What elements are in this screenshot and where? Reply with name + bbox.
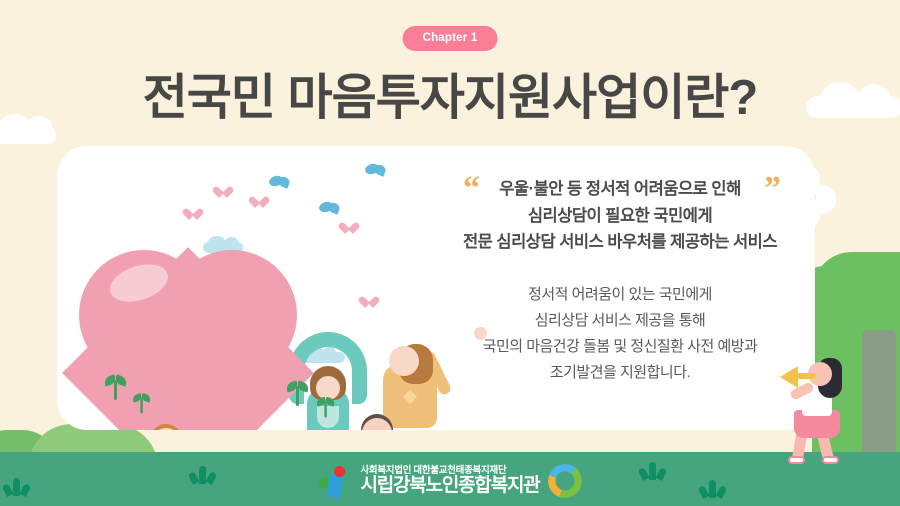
small-heart-icon [253,192,265,203]
big-heart-graphic [79,250,297,430]
quote-close-icon: ” [764,172,781,206]
quote-line: 전문 심리상담 서비스 바우처를 제공하는 서비스 [425,229,815,256]
ring-logo-icon [548,464,582,498]
organization-text: 사회복지법인 대한불교천태종복지재단 시립강북노인종합복지관 [360,466,539,496]
chapter-badge: Chapter 1 [403,26,498,51]
sprout-icon [133,393,151,414]
small-heart-icon [363,292,375,303]
quote-line: 우울·불안 등 정서적 어려움으로 인해 [425,176,815,203]
bird-icon [365,164,387,176]
trumpet-icon [780,366,814,386]
page-title: 전국민 마음투자지원사업이란? [0,58,900,129]
sprout-icon [317,396,335,417]
tree-trunk [862,330,896,456]
sprout-icon [105,374,127,400]
description-block: 정서적 어려움이 있는 국민에게 심리상담 서비스 제공을 통해 국민의 마음건… [483,282,758,385]
card-text-column: “ ” 우울·불안 등 정서적 어려움으로 인해 심리상담이 필요한 국민에게 … [425,146,815,430]
trumpet-girl-illustration [778,352,864,456]
bird-icon [269,176,291,188]
organization-name: 시립강북노인종합복지관 [360,476,539,496]
quote-open-icon: “ [463,172,480,206]
sprout-icon [287,380,309,406]
description-line: 정서적 어려움이 있는 국민에게 [483,282,758,308]
description-line: 국민의 마음건강 돌봄 및 정신질환 사전 예방과 [483,334,758,360]
footer-logo-bar: 사회복지법인 대한불교천태종복지재단 시립강북노인종합복지관 [0,456,900,506]
quote-line: 심리상담이 필요한 국민에게 [425,203,815,230]
small-heart-icon [343,218,355,229]
small-heart-icon [187,204,199,215]
foundation-mark-icon [318,464,352,498]
bird-icon [319,202,341,214]
quote-block: “ ” 우울·불안 등 정서적 어려움으로 인해 심리상담이 필요한 국민에게 … [425,176,815,256]
small-heart-icon [217,182,229,193]
content-card: “ ” 우울·불안 등 정서적 어려움으로 인해 심리상담이 필요한 국민에게 … [57,146,815,430]
description-line: 심리상담 서비스 제공을 통해 [483,308,758,334]
description-line: 조기발견을 지원합니다. [483,360,758,386]
slide-root: Chapter 1 전국민 마음투자지원사업이란? [0,0,900,506]
heart-illustration [57,146,407,430]
